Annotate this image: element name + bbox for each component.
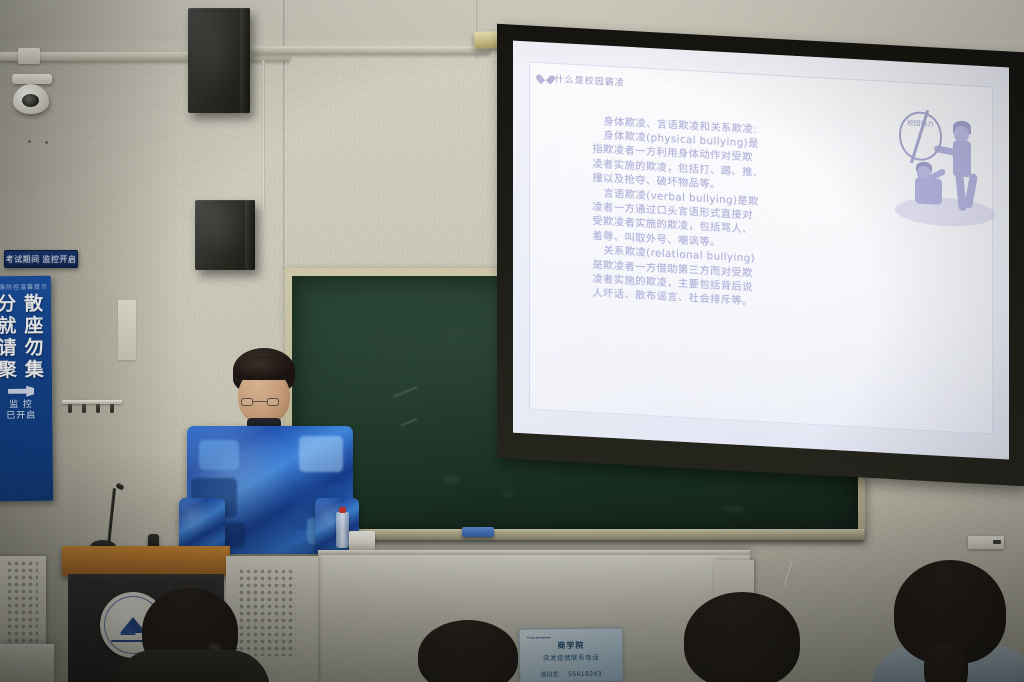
chalk-mark-2 — [400, 418, 417, 427]
glasses-left-lens — [241, 398, 253, 406]
seating-char-4: 请 — [0, 339, 19, 359]
slide-body-text: 身体欺凌、言语欺凌和关系欺凌: 身体欺凌(physical bullying)是… — [592, 113, 885, 316]
speaker-upper-side — [240, 8, 250, 113]
room-ambient-shadow — [0, 452, 1024, 682]
speaker-cable — [262, 60, 265, 210]
seating-char-0: 分 — [0, 295, 18, 315]
illustration-ground — [895, 195, 995, 229]
seating-char-3: 座 — [22, 317, 45, 337]
camera-junction-box — [18, 48, 40, 64]
presentation-slide: 什么是校园霸凌 身体欺凌、言语欺凌和关系欺凌: 身体欺凌(physical bu… — [513, 41, 1009, 460]
chalk-mark-1 — [393, 386, 418, 398]
seating-char-1: 散 — [22, 295, 45, 315]
projection-surface: 什么是校园霸凌 身体欺凌、言语欺凌和关系欺凌: 身体欺凌(physical bu… — [513, 41, 1009, 460]
wall-screw-a — [28, 140, 31, 143]
glasses-right-lens — [267, 398, 279, 406]
illustration-kneeling-body — [915, 178, 942, 205]
wall-seam-a — [283, 0, 286, 270]
glasses-bridge — [253, 401, 267, 402]
seating-sign-header: 疫情防控温馨提示 — [0, 276, 51, 292]
seating-char-7: 集 — [23, 361, 46, 381]
wall-speaker-lower — [195, 200, 255, 270]
exam-monitoring-sign-text: 考试期间 监控开启 — [6, 254, 77, 265]
speaker-lower-side — [245, 200, 255, 270]
seating-char-5: 勿 — [22, 339, 45, 359]
heart-shield-icon — [540, 72, 551, 84]
seating-sign-characters: 分 散 就 座 请 勿 聚 集 — [0, 291, 52, 383]
cctv-camera-icon — [8, 386, 34, 397]
exam-monitoring-sign: 考试期间 监控开启 — [4, 250, 78, 268]
seating-sign-footer: 监 控 已开启 — [0, 398, 52, 426]
seating-footer-line2: 已开启 — [0, 410, 52, 422]
seating-char-6: 聚 — [0, 361, 19, 381]
wall-screw-b — [45, 141, 48, 144]
camera-lens-icon — [22, 94, 39, 107]
no-school-violence-illustration: 校园暴力 — [892, 108, 996, 231]
camera-mount-arm — [12, 74, 52, 84]
wall-hook-1 — [68, 404, 72, 413]
seating-char-2: 就 — [0, 317, 18, 337]
lecturer-glasses-icon — [239, 398, 291, 408]
wall-hook-2 — [82, 404, 86, 413]
wall-hook-3 — [96, 404, 100, 413]
classroom-photo: 考试期间 监控开启 疫情防控温馨提示 分 散 就 座 请 勿 聚 集 监 控 已… — [0, 0, 1024, 682]
lecturer-fringe — [235, 356, 293, 380]
pull-down-projection-screen: 什么是校园霸凌 身体欺凌、言语欺凌和关系欺凌: 身体欺凌(physical bu… — [497, 24, 1024, 487]
wall-hook-4 — [110, 404, 114, 413]
wall-paper-strip — [118, 300, 136, 360]
wall-speaker-upper — [188, 8, 250, 113]
wall-conduit-right — [250, 46, 490, 54]
seating-footer-line1: 监 控 — [0, 398, 52, 410]
illustration-standing-body — [953, 141, 971, 177]
